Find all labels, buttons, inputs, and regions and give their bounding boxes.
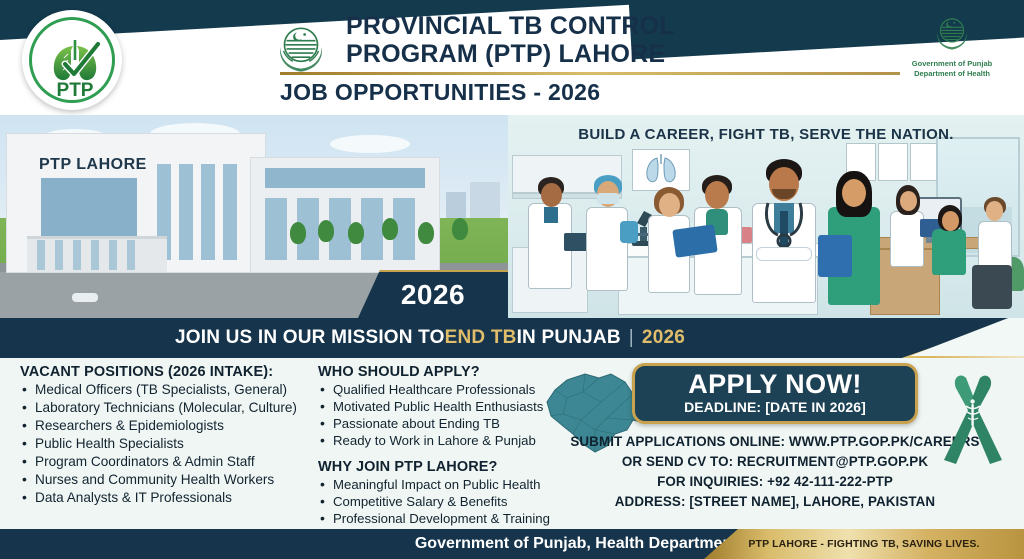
apply-section: APPLY NOW! DEADLINE: [DATE IN 2026] SUBM… — [560, 363, 990, 512]
job-advertisement-poster: PTP PROVINCIAL TB CONTROL PROGRAM (PTP) … — [0, 0, 1024, 559]
who-should-apply-heading: WHO SHOULD APPLY? — [318, 364, 558, 380]
tb-awareness-ribbon-icon — [934, 370, 1012, 466]
ptp-building-illustration: PTP LAHORE 2026 — [0, 115, 508, 318]
poster-footer: Government of Punjab, Health Department.… — [0, 529, 1024, 559]
title-divider-rule — [280, 72, 900, 75]
header-title-block: PROVINCIAL TB CONTROL PROGRAM (PTP) LAHO… — [270, 12, 910, 106]
who-should-apply-list: Qualified Healthcare Professionals Motiv… — [318, 381, 558, 450]
eligibility-section: WHO SHOULD APPLY? Qualified Healthcare P… — [318, 364, 558, 544]
list-item: Medical Officers (TB Specialists, Genera… — [20, 381, 320, 399]
footer-tagline: PTP LAHORE - FIGHTING TB, SAVING LIVES. — [748, 538, 979, 550]
ptp-logo-text: PTP — [57, 80, 94, 101]
car — [72, 293, 98, 302]
submit-online-line: SUBMIT APPLICATIONS ONLINE: WWW.PTP.GOP.… — [560, 432, 990, 452]
list-item: Public Health Specialists — [20, 435, 320, 453]
header-title: PROVINCIAL TB CONTROL PROGRAM (PTP) LAHO… — [346, 12, 910, 68]
gloved-hand — [620, 221, 638, 243]
footer-left-block: Government of Punjab, Health Department. — [0, 529, 760, 559]
list-item: Data Analysts & IT Professionals — [20, 489, 320, 507]
vacant-positions-heading: VACANT POSITIONS (2026 INTAKE): — [20, 364, 320, 380]
poster-content: VACANT POSITIONS (2026 INTAKE): Medical … — [0, 358, 1024, 529]
punjab-government-crest-icon — [270, 20, 332, 82]
office-chair — [972, 265, 1012, 309]
list-item: Qualified Healthcare Professionals — [318, 381, 558, 398]
building-wing — [250, 157, 440, 273]
ptp-logo-ring: PTP — [29, 17, 115, 103]
contact-details: SUBMIT APPLICATIONS ONLINE: WWW.PTP.GOP.… — [560, 432, 990, 512]
punjab-crest-icon — [929, 12, 975, 58]
main-building: PTP LAHORE — [6, 133, 266, 273]
clipboard — [818, 235, 852, 277]
mission-part-2: IN PUNJAB — [517, 327, 621, 349]
list-item: Program Coordinators & Admin Staff — [20, 453, 320, 471]
lungs-diagram-icon — [633, 150, 691, 192]
lungs-chart-poster — [632, 149, 690, 191]
poster-image-row: PTP LAHORE 2026 BUILD — [0, 115, 1024, 318]
why-join-heading: WHY JOIN PTP LAHORE? — [318, 459, 558, 475]
list-item: Researchers & Epidemiologists — [20, 417, 320, 435]
header-subtitle: JOB OPPORTUNITIES - 2026 — [280, 79, 910, 106]
send-cv-line: OR SEND CV TO: RECRUITMENT@PTP.GOP.PK — [560, 452, 990, 472]
gov-logo-line-1: Government of Punjab — [892, 59, 1012, 68]
mission-part-1: JOIN US IN OUR MISSION TO — [175, 327, 445, 349]
cloud — [330, 135, 410, 153]
mission-divider: | — [629, 327, 634, 349]
list-item: Passionate about Ending TB — [318, 415, 558, 432]
apply-now-label: APPLY NOW! — [635, 371, 915, 399]
mission-banner: JOIN US IN OUR MISSION TO END TB IN PUNJ… — [0, 318, 1024, 358]
lab-coat — [890, 211, 924, 267]
list-item: Nurses and Community Health Workers — [20, 471, 320, 489]
lab-coat — [586, 207, 628, 291]
list-item: Laboratory Technicians (Molecular, Cultu… — [20, 399, 320, 417]
face-mask — [597, 193, 619, 204]
list-item: Ready to Work in Lahore & Punjab — [318, 432, 558, 449]
ptp-logo: PTP — [22, 10, 122, 110]
list-item: Competitive Salary & Benefits — [318, 493, 558, 510]
mission-highlight: END TB — [445, 327, 517, 349]
vacant-positions-list: Medical Officers (TB Specialists, Genera… — [20, 381, 320, 508]
apply-now-button[interactable]: APPLY NOW! DEADLINE: [DATE IN 2026] — [632, 363, 918, 424]
building-sign: PTP LAHORE — [39, 156, 147, 174]
year-badge-text: 2026 — [401, 279, 465, 311]
inquiries-line: FOR INQUIRIES: +92 42-111-222-PTP — [560, 472, 990, 492]
poster-header: PTP PROVINCIAL TB CONTROL PROGRAM (PTP) … — [0, 0, 1024, 115]
lungs-check-icon: PTP — [32, 20, 118, 106]
mission-year: 2026 — [642, 327, 685, 349]
clipboard — [672, 224, 717, 258]
footer-tagline-band: PTP LAHORE - FIGHTING TB, SAVING LIVES. — [704, 529, 1024, 559]
career-tagline: BUILD A CAREER, FIGHT TB, SERVE THE NATI… — [508, 126, 1024, 143]
crossed-arms — [756, 247, 812, 261]
footer-government-label: Government of Punjab, Health Department. — [415, 535, 742, 553]
vacant-positions-section: VACANT POSITIONS (2026 INTAKE): Medical … — [20, 364, 320, 508]
government-punjab-logo: Government of Punjab Department of Healt… — [892, 12, 1012, 79]
list-item: Motivated Public Health Enthusiasts — [318, 398, 558, 415]
year-badge: 2026 — [358, 270, 508, 318]
mission-statement: JOIN US IN OUR MISSION TO END TB IN PUNJ… — [0, 318, 860, 358]
list-item: Meaningful Impact on Public Health — [318, 476, 558, 493]
list-item: Professional Development & Training — [318, 510, 558, 527]
deadline-label: DEADLINE: [DATE IN 2026] — [635, 399, 915, 415]
medical-team-illustration: BUILD A CAREER, FIGHT TB, SERVE THE NATI… — [508, 115, 1024, 318]
gov-logo-line-2: Department of Health — [892, 69, 1012, 78]
title-line-2: PROGRAM (PTP) LAHORE — [346, 40, 910, 68]
title-line-1: PROVINCIAL TB CONTROL — [346, 12, 910, 40]
address-line: ADDRESS: [STREET NAME], LAHORE, PAKISTAN — [560, 492, 990, 512]
